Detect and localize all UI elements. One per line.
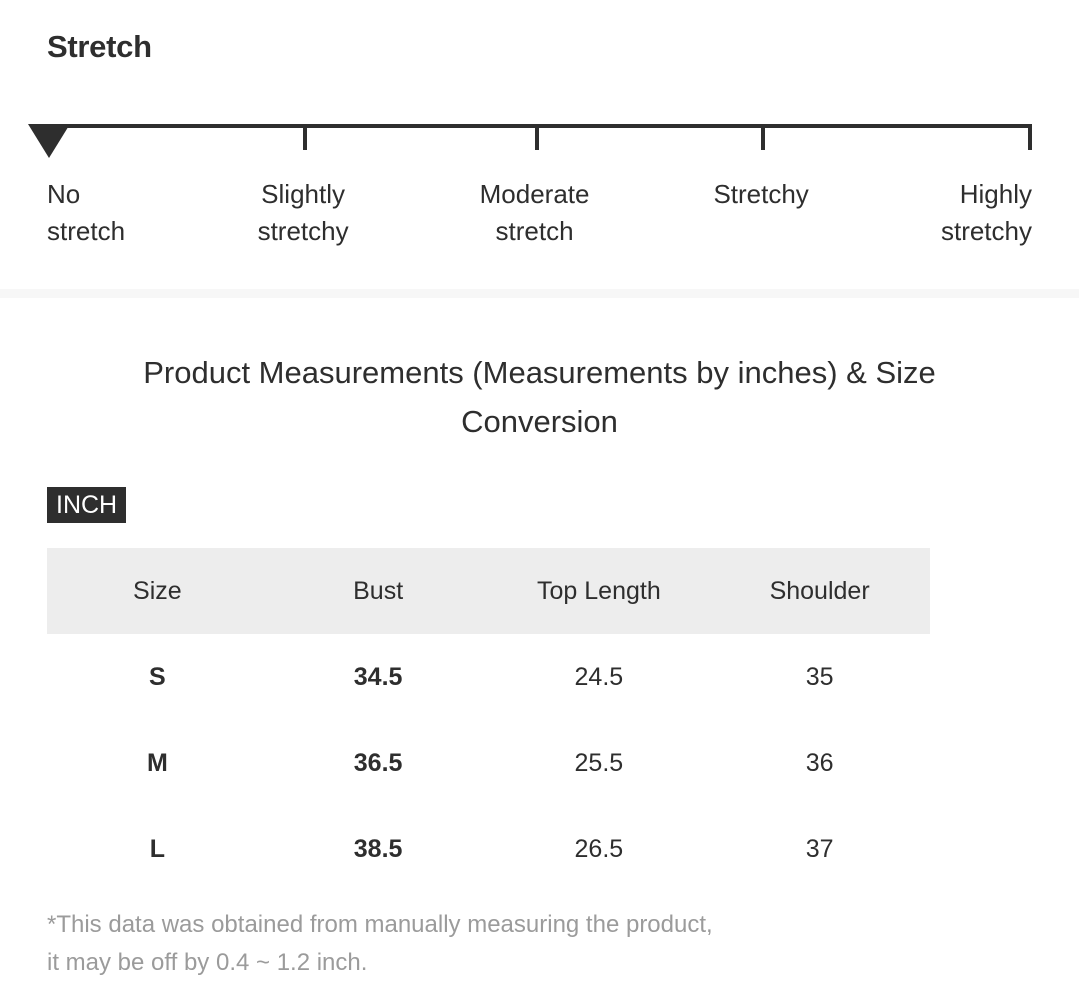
cell-shoulder: 35 [709, 634, 930, 720]
stretch-scale-baseline [47, 124, 1032, 128]
stretch-level-label-1: Slightly stretchy [258, 176, 349, 250]
stretch-level-label-2: Moderate stretch [480, 176, 590, 250]
cell-shoulder: 37 [709, 806, 930, 892]
stretch-level-marker-icon [28, 124, 70, 158]
stretch-tick-1 [303, 124, 307, 150]
size-chart-table: SizeBustTop LengthShoulder S34.524.535M3… [47, 548, 930, 892]
measurements-title: Product Measurements (Measurements by in… [0, 348, 1079, 446]
stretch-heading: Stretch [47, 30, 152, 64]
size-chart-body: S34.524.535M36.525.536L38.526.537 [47, 634, 930, 892]
table-row: S34.524.535 [47, 634, 930, 720]
stretch-level-label-3: Stretchy [713, 176, 808, 213]
unit-badge: INCH [47, 487, 126, 523]
size-chart-head: SizeBustTop LengthShoulder [47, 548, 930, 634]
table-row: L38.526.537 [47, 806, 930, 892]
cell-size: L [47, 806, 268, 892]
column-header-1: Bust [268, 548, 489, 634]
column-header-3: Shoulder [709, 548, 930, 634]
cell-size: M [47, 720, 268, 806]
stretch-level-label-0: No stretch [47, 176, 125, 250]
cell-top-length: 24.5 [489, 634, 710, 720]
cell-size: S [47, 634, 268, 720]
stretch-scale [47, 124, 1032, 154]
cell-bust: 36.5 [268, 720, 489, 806]
stretch-tick-2 [535, 124, 539, 150]
cell-top-length: 26.5 [489, 806, 710, 892]
cell-top-length: 25.5 [489, 720, 710, 806]
stretch-scale-labels: No stretchSlightly stretchyModerate stre… [47, 176, 1032, 256]
table-header-row: SizeBustTop LengthShoulder [47, 548, 930, 634]
table-row: M36.525.536 [47, 720, 930, 806]
section-divider [0, 289, 1079, 298]
column-header-0: Size [47, 548, 268, 634]
stretch-tick-3 [761, 124, 765, 150]
column-header-2: Top Length [489, 548, 710, 634]
stretch-tick-4 [1028, 124, 1032, 150]
stretch-level-label-4: Highly stretchy [941, 176, 1032, 250]
cell-bust: 38.5 [268, 806, 489, 892]
cell-shoulder: 36 [709, 720, 930, 806]
measurement-disclaimer: *This data was obtained from manually me… [47, 906, 1007, 982]
cell-bust: 34.5 [268, 634, 489, 720]
